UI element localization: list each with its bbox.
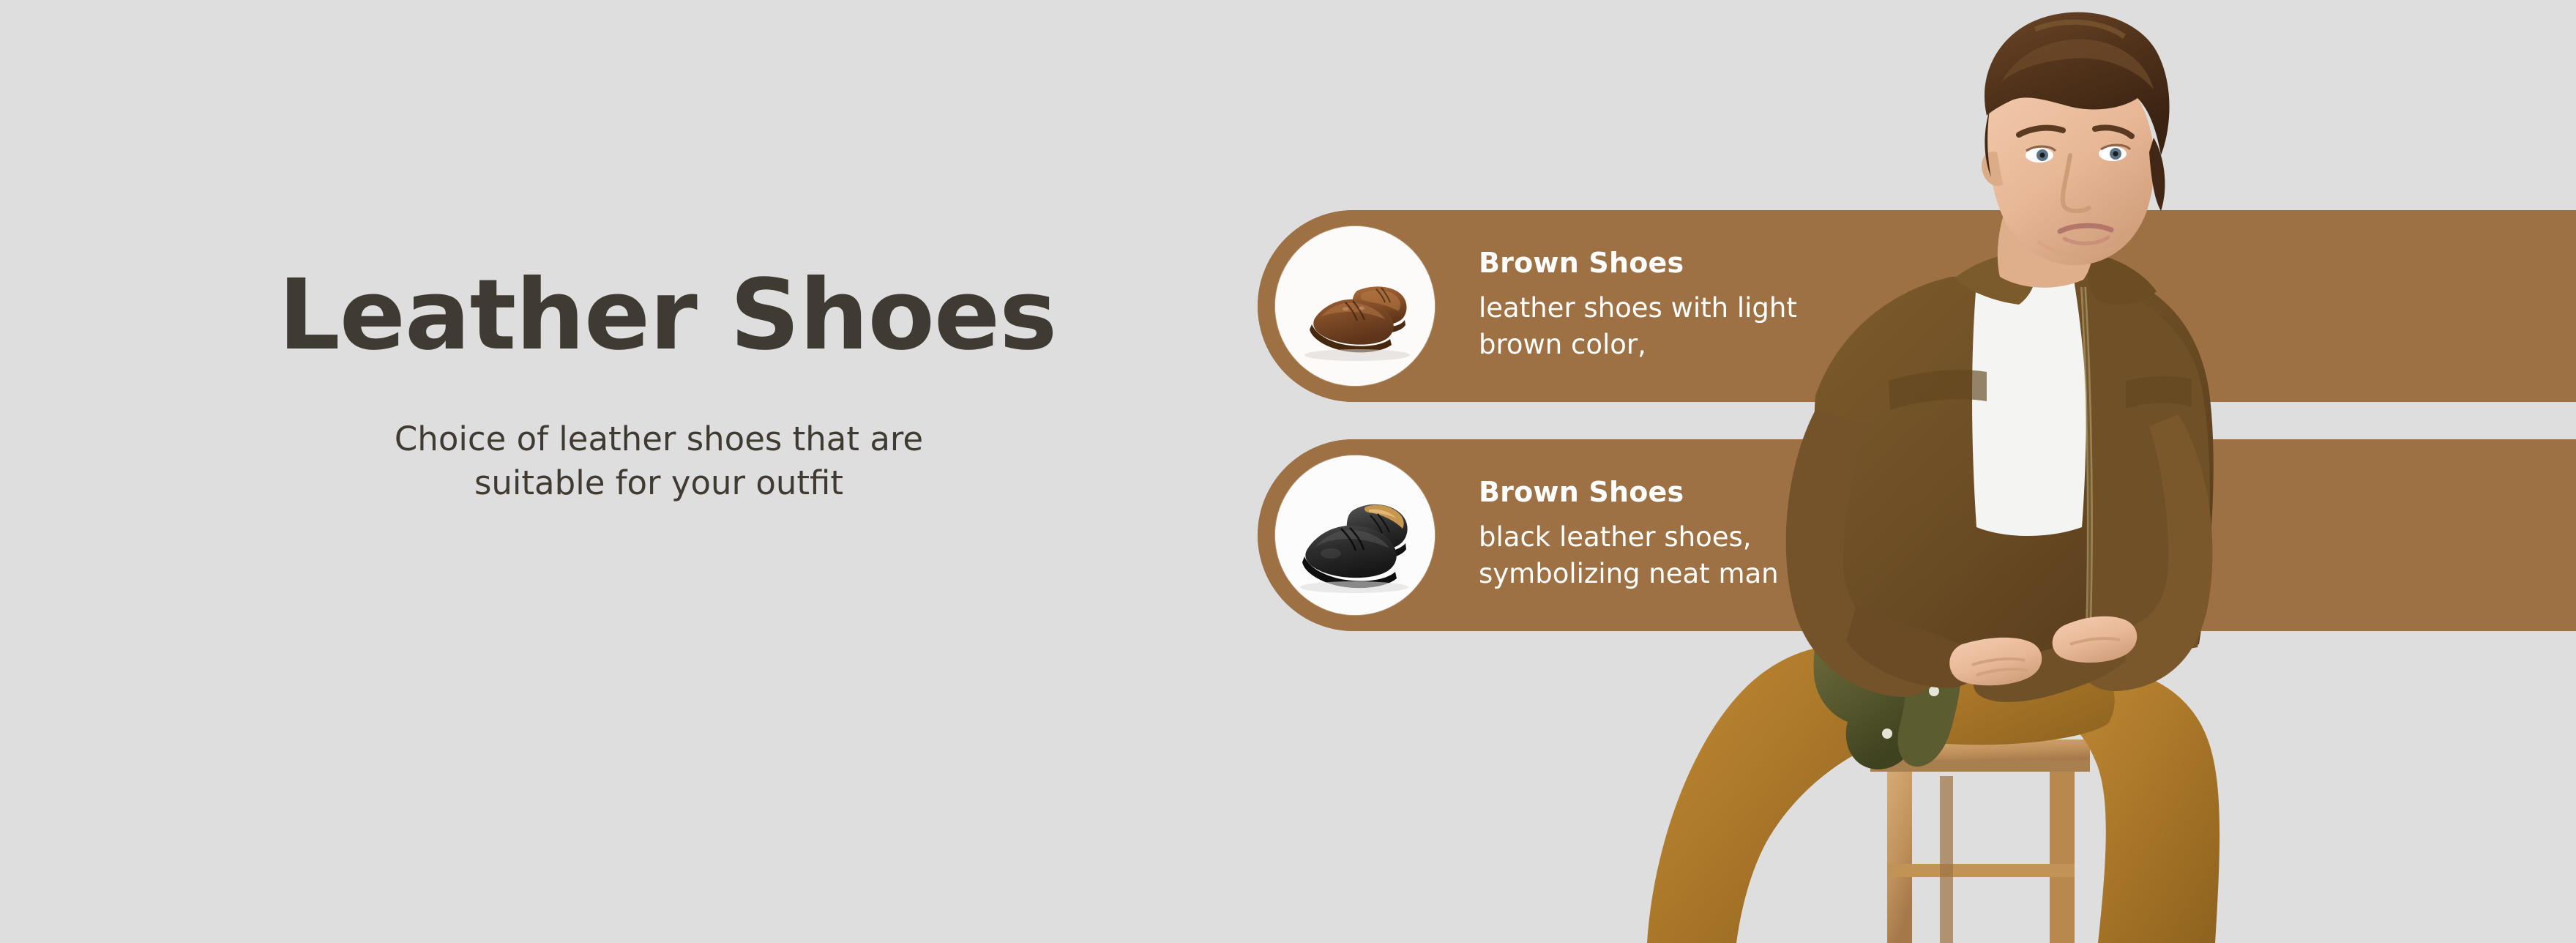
page-title: Leather Shoes — [278, 264, 1039, 369]
black-shoes-thumbnail — [1275, 455, 1435, 615]
card-title: Brown Shoes — [1479, 249, 1823, 277]
card-description: leather shoes with light brown color, — [1479, 290, 1823, 363]
product-card-brown[interactable]: Brown Shoes leather shoes with light bro… — [1275, 220, 1823, 392]
card-description: black leather shoes, symbolizing neat ma… — [1479, 519, 1823, 592]
brown-shoes-thumbnail — [1275, 226, 1435, 386]
black-shoes-card-text: Brown Shoes black leather shoes, symboli… — [1479, 478, 1823, 592]
card-title: Brown Shoes — [1479, 478, 1823, 506]
hero-text-block: Leather Shoes Choice of leather shoes th… — [278, 264, 1039, 506]
product-card-black[interactable]: Brown Shoes black leather shoes, symboli… — [1275, 449, 1823, 622]
brown-shoes-card-text: Brown Shoes leather shoes with light bro… — [1479, 249, 1823, 363]
hero-subheading: Choice of leather shoes that are suitabl… — [366, 417, 952, 507]
leather-shoes-banner: Leather Shoes Choice of leather shoes th… — [0, 0, 2576, 943]
